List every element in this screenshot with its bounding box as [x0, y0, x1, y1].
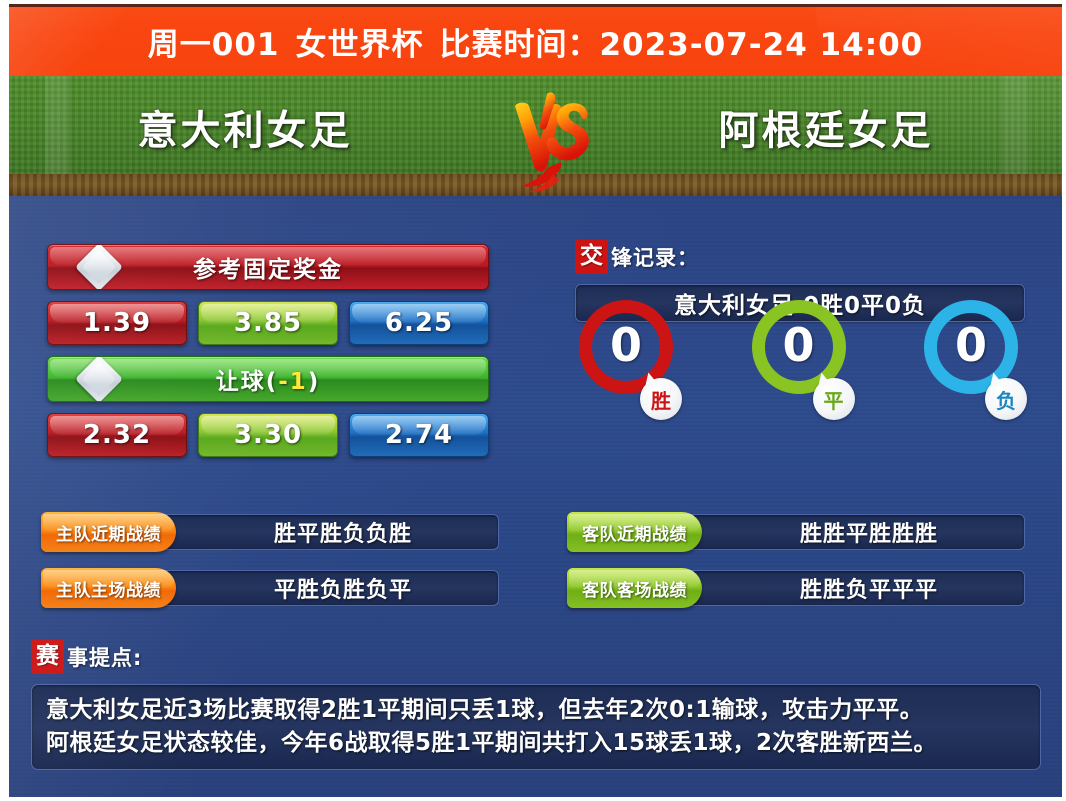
h2h-badge-icon: 交: [575, 240, 608, 274]
tips-line-1: 意大利女足近3场比赛取得2胜1平期间只丢1球，但去年2次0:1输球，攻击力平平。: [46, 694, 1026, 727]
home-team-name: 意大利女足: [35, 98, 455, 156]
stats-panel: 参考固定奖金 1.39 3.85 6.25 让球(-1) 2.32 3.30 2…: [9, 196, 1062, 797]
fixed-prize-header: 参考固定奖金: [47, 244, 489, 290]
header-round: 周一001: [148, 27, 280, 63]
odds-draw-value: 3.85: [234, 308, 302, 338]
odds-column: 参考固定奖金 1.39 3.85 6.25 让球(-1) 2.32 3.30 2…: [47, 244, 489, 468]
ring-loss-label: 负: [996, 385, 1016, 414]
home-home-form-row: 平胜负胜负平 主队主场战绩: [41, 568, 501, 608]
tips-section-label: 赛 事提点:: [31, 640, 1041, 674]
odds-draw-button[interactable]: 3.85: [198, 301, 338, 345]
ring-loss: 0 负: [920, 300, 1025, 420]
home-home-form-value: 平胜负胜负平: [236, 572, 412, 604]
fixed-prize-odds-row: 1.39 3.85 6.25: [47, 301, 489, 345]
home-home-form-tab[interactable]: 主队主场战绩: [41, 568, 176, 608]
home-recent-form-value: 胜平胜负负胜: [236, 516, 412, 548]
header-kickoff-time: 2023-07-24 14:00: [599, 27, 923, 63]
handicap-value: -1: [278, 369, 308, 395]
away-away-form-row: 胜胜负平平平 客队客场战绩: [567, 568, 1027, 608]
ring-loss-value: 0: [955, 322, 987, 368]
handicap-header: 让球(-1): [47, 356, 489, 402]
diamond-gem-icon: [75, 244, 123, 290]
tips-section: 赛 事提点: 意大利女足近3场比赛取得2胜1平期间只丢1球，但去年2次0:1输球…: [31, 640, 1041, 770]
ring-win-value: 0: [610, 322, 642, 368]
away-recent-form-label: 客队近期战绩: [582, 520, 687, 545]
away-recent-form-tab[interactable]: 客队近期战绩: [567, 512, 702, 552]
tips-label-text: 事提点:: [67, 642, 142, 672]
handicap-title: 让球(-1): [216, 362, 321, 396]
handicap-draw-value: 3.30: [234, 420, 302, 450]
ring-draw-badge: 平: [813, 378, 855, 420]
handicap-draw-button[interactable]: 3.30: [198, 413, 338, 457]
away-away-form-value: 胜胜负平平平: [762, 572, 938, 604]
away-team-name: 阿根廷女足: [616, 98, 1036, 156]
home-home-form-bar: 平胜负胜负平: [149, 570, 499, 606]
home-recent-form-label: 主队近期战绩: [56, 520, 161, 545]
home-recent-form-row: 胜平胜负负胜 主队近期战绩: [41, 512, 501, 552]
tips-badge-icon: 赛: [31, 640, 64, 674]
handicap-away-win-button[interactable]: 2.74: [349, 413, 489, 457]
handicap-away-win-value: 2.74: [385, 420, 453, 450]
away-away-form-bar: 胜胜负平平平: [675, 570, 1025, 606]
tips-box: 意大利女足近3场比赛取得2胜1平期间只丢1球，但去年2次0:1输球，攻击力平平。…: [31, 684, 1041, 770]
ring-draw: 0 平: [748, 300, 853, 420]
away-recent-form-bar: 胜胜平胜胜胜: [675, 514, 1025, 550]
home-home-form-label: 主队主场战绩: [56, 576, 161, 601]
home-recent-form-bar: 胜平胜负负胜: [149, 514, 499, 550]
fixed-prize-title: 参考固定奖金: [193, 250, 343, 284]
vs-flame-icon: [503, 88, 599, 196]
ring-win: 0 胜: [575, 300, 680, 420]
ring-win-label: 胜: [651, 385, 671, 414]
odds-home-win-value: 1.39: [83, 308, 151, 338]
handicap-suffix: ): [308, 369, 321, 395]
header-title: 周一001女世界杯比赛时间：2023-07-24 14:00: [148, 19, 923, 64]
h2h-rings: 0 胜 0 平 0 负: [575, 300, 1025, 425]
odds-home-win-button[interactable]: 1.39: [47, 301, 187, 345]
ring-win-badge: 胜: [640, 378, 682, 420]
h2h-section-label: 交 锋记录：: [575, 240, 1025, 274]
handicap-home-win-button[interactable]: 2.32: [47, 413, 187, 457]
header-kickoff-label: 比赛时间：: [439, 27, 599, 63]
tips-line-2: 阿根廷女足状态较佳，今年6战取得5胜1平期间共打入15球丢1球，2次客胜新西兰。: [46, 727, 1026, 760]
ring-loss-badge: 负: [985, 378, 1027, 420]
handicap-home-win-value: 2.32: [83, 420, 151, 450]
ring-draw-value: 0: [782, 322, 814, 368]
handicap-odds-row: 2.32 3.30 2.74: [47, 413, 489, 457]
h2h-label-text: 锋记录：: [611, 242, 699, 272]
header-competition: 女世界杯: [295, 27, 423, 63]
away-recent-form-value: 胜胜平胜胜胜: [762, 516, 938, 548]
handicap-prefix: 让球(: [216, 369, 279, 395]
teams-banner: 意大利女足 阿根廷女足: [9, 76, 1062, 196]
away-recent-form-row: 胜胜平胜胜胜 客队近期战绩: [567, 512, 1027, 552]
home-recent-form-tab[interactable]: 主队近期战绩: [41, 512, 176, 552]
odds-away-win-button[interactable]: 6.25: [349, 301, 489, 345]
away-away-form-tab[interactable]: 客队客场战绩: [567, 568, 702, 608]
away-away-form-label: 客队客场战绩: [582, 576, 687, 601]
odds-away-win-value: 6.25: [385, 308, 453, 338]
diamond-gem-icon-handicap: [75, 356, 123, 402]
header-bar: 周一001女世界杯比赛时间：2023-07-24 14:00: [9, 4, 1062, 76]
ring-draw-label: 平: [824, 385, 844, 414]
match-preview-card: 周一001女世界杯比赛时间：2023-07-24 14:00 意大利女足: [0, 0, 1066, 801]
